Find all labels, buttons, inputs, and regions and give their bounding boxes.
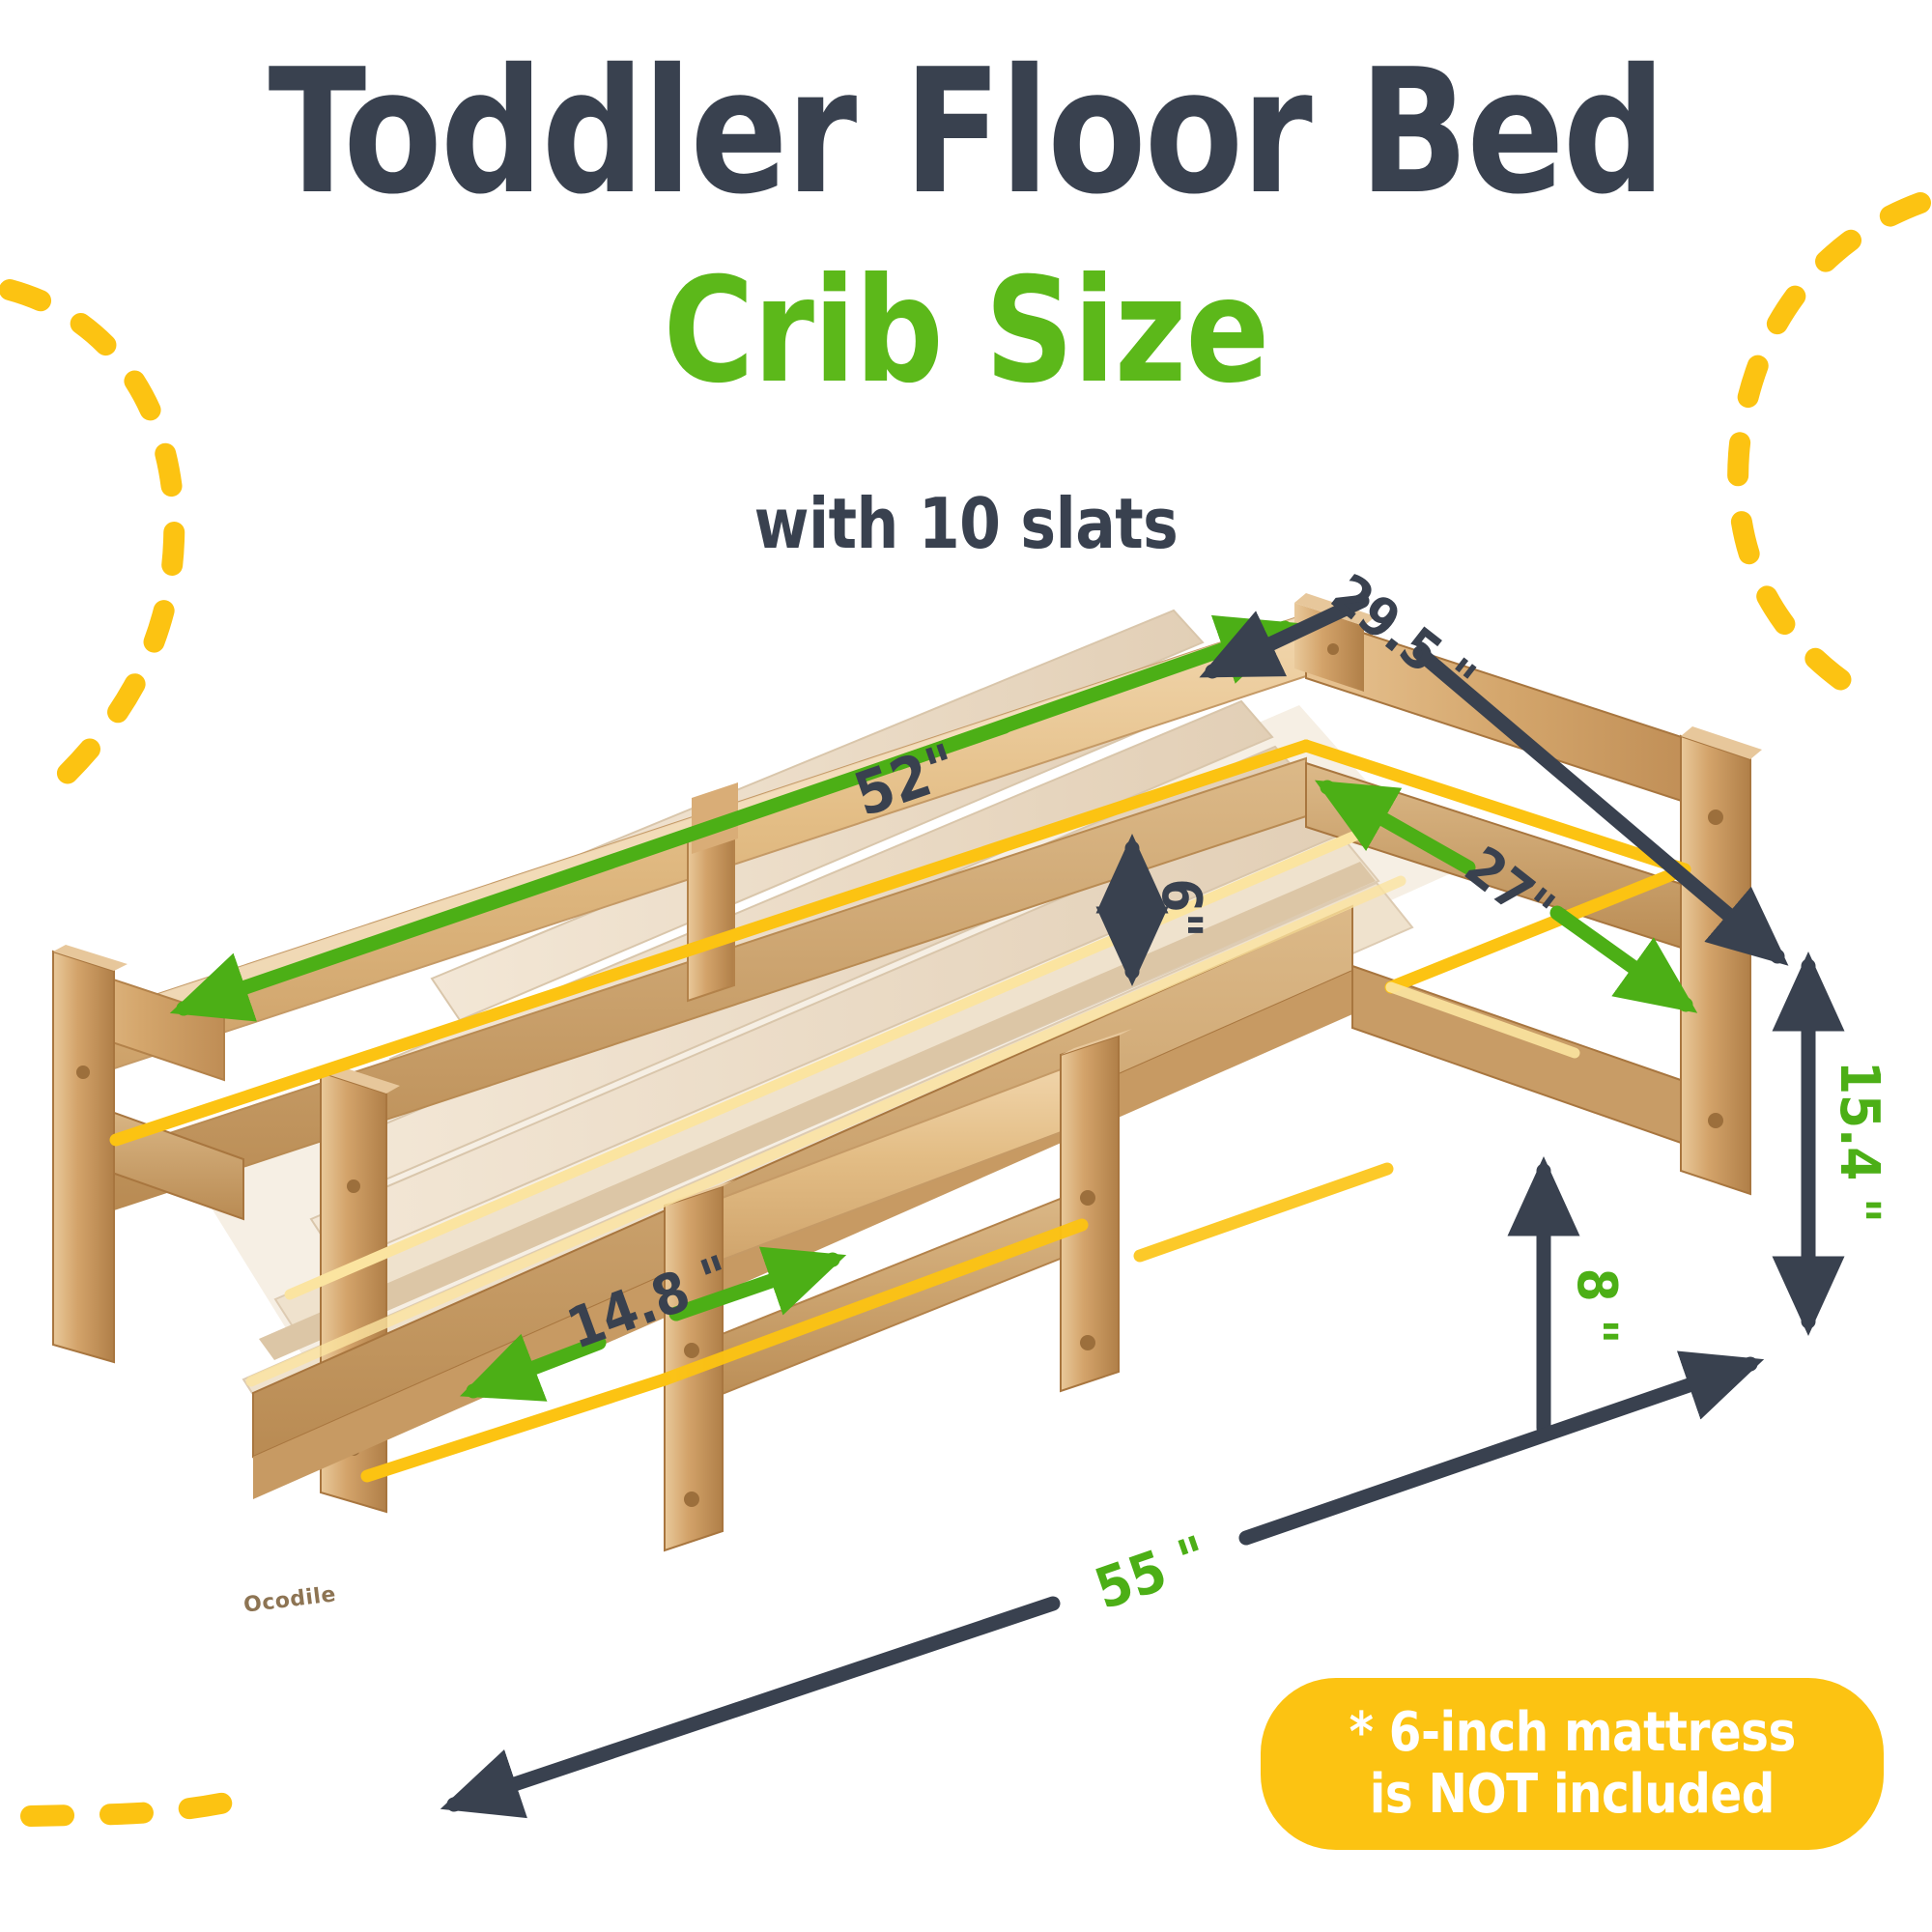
mattress-note-line2: is NOT included [1370,1764,1775,1826]
dim-label-rail-height: 15.4 " [1832,1061,1886,1223]
screw [1080,1190,1095,1206]
head-corner-post [53,952,114,1362]
mattress-note-line1: * 6-inch mattress [1349,1702,1795,1764]
screw [1708,810,1723,825]
dim-label-mattress-gap: 6" [1153,878,1207,937]
product-photo [0,0,1932,1932]
screw [1080,1335,1095,1350]
screw [347,1179,360,1193]
screw [1327,643,1339,655]
screw [76,1065,90,1079]
screw [684,1492,699,1507]
mattress-edge-bottom [1140,1169,1387,1256]
screw [1708,1113,1723,1128]
screw [684,1343,699,1358]
dim-label-deck-height: 8 " [1569,1268,1623,1345]
mattress-note-badge: * 6-inch mattress is NOT included [1261,1678,1884,1850]
infographic-canvas: Toddler Floor Bed Crib Size with 10 slat… [0,0,1932,1932]
arrow-outer-length-left [454,1604,1053,1804]
arrow-outer-length-right [1246,1364,1750,1538]
